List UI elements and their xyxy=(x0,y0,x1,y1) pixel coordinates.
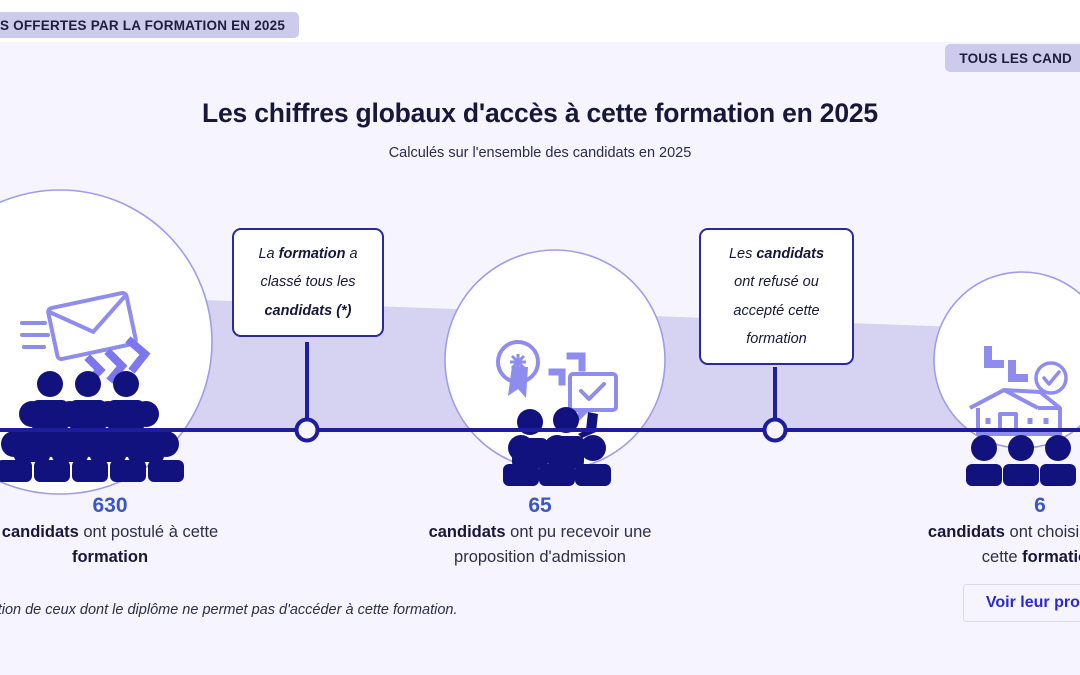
stat-3-label-bold-1: candidats xyxy=(928,523,1005,541)
callout-candidats-refuse-accepte: Les candidats ont refusé ou accepté cett… xyxy=(699,228,854,365)
stat-3-label: candidats ont choisi d'intégrer cette fo… xyxy=(840,520,1080,570)
callout-1-line1-bold: formation xyxy=(279,246,346,262)
callout-2-line-1: Les candidats xyxy=(714,240,839,268)
stat-1-number: 630 xyxy=(0,492,320,520)
stat-block-admission: 65 candidats ont pu recevoir une proposi… xyxy=(355,492,725,570)
callout-1-line-3: candidats (*) xyxy=(247,297,369,325)
callout-1-line1-pre: La xyxy=(258,246,278,262)
stats-panel: TOUS LES CAND Les chiffres globaux d'acc… xyxy=(0,42,1080,675)
stat-2-label-rest-2: proposition d'admission xyxy=(454,548,626,566)
callout-1-line-1: La formation a xyxy=(247,240,369,268)
stat-2-number: 65 xyxy=(355,492,725,520)
stat-2-label: candidats ont pu recevoir une propositio… xyxy=(355,520,725,570)
callout-2-line1-bold: candidats xyxy=(756,246,824,262)
timeline-node-2 xyxy=(765,420,786,441)
tab-offres-formation[interactable]: S OFFERTES PAR LA FORMATION EN 2025 xyxy=(0,12,299,38)
stat-1-label-rest-1: ont postulé à cette xyxy=(79,523,218,541)
stat-2-label-bold-1: candidats xyxy=(429,523,506,541)
stat-3-label-rest-1: ont choisi d'intégrer xyxy=(1005,523,1080,541)
stat-3-label-rest-2: cette xyxy=(982,548,1022,566)
callout-1-line1-post: a xyxy=(345,246,357,262)
callout-2-line-2: ont refusé ou xyxy=(714,268,839,296)
stat-1-label-bold-2: formation xyxy=(72,548,148,566)
stat-1-label-bold-1: candidats xyxy=(2,523,79,541)
timeline-node-1 xyxy=(297,420,318,441)
callout-2-line-3: accepté cette xyxy=(714,297,839,325)
stat-2-label-rest-1: ont pu recevoir une xyxy=(506,523,652,541)
callout-2-line-4: formation xyxy=(714,325,839,353)
callout-1-line3-bold: candidats (*) xyxy=(264,303,351,319)
screenshot-root: S OFFERTES PAR LA FORMATION EN 2025 TOUS… xyxy=(0,0,1080,675)
stat-block-integre: 6 candidats ont choisi d'intégrer cette … xyxy=(840,492,1080,622)
stat-3-number: 6 xyxy=(840,492,1080,520)
callout-2-line1-pre: Les xyxy=(729,246,756,262)
stat-3-label-bold-2: formation xyxy=(1022,548,1080,566)
callout-1-line-2: classé tous les xyxy=(247,268,369,296)
footnote: (*) À l'exception de ceux dont le diplôm… xyxy=(0,602,680,618)
voir-leur-profil-button[interactable]: Voir leur profil xyxy=(963,584,1080,622)
stat-block-postules: 630 candidats ont postulé à cette format… xyxy=(0,492,320,570)
stat-1-label: candidats ont postulé à cette formation xyxy=(0,520,320,570)
callout-formation-classe: La formation a classé tous les candidats… xyxy=(232,228,384,337)
